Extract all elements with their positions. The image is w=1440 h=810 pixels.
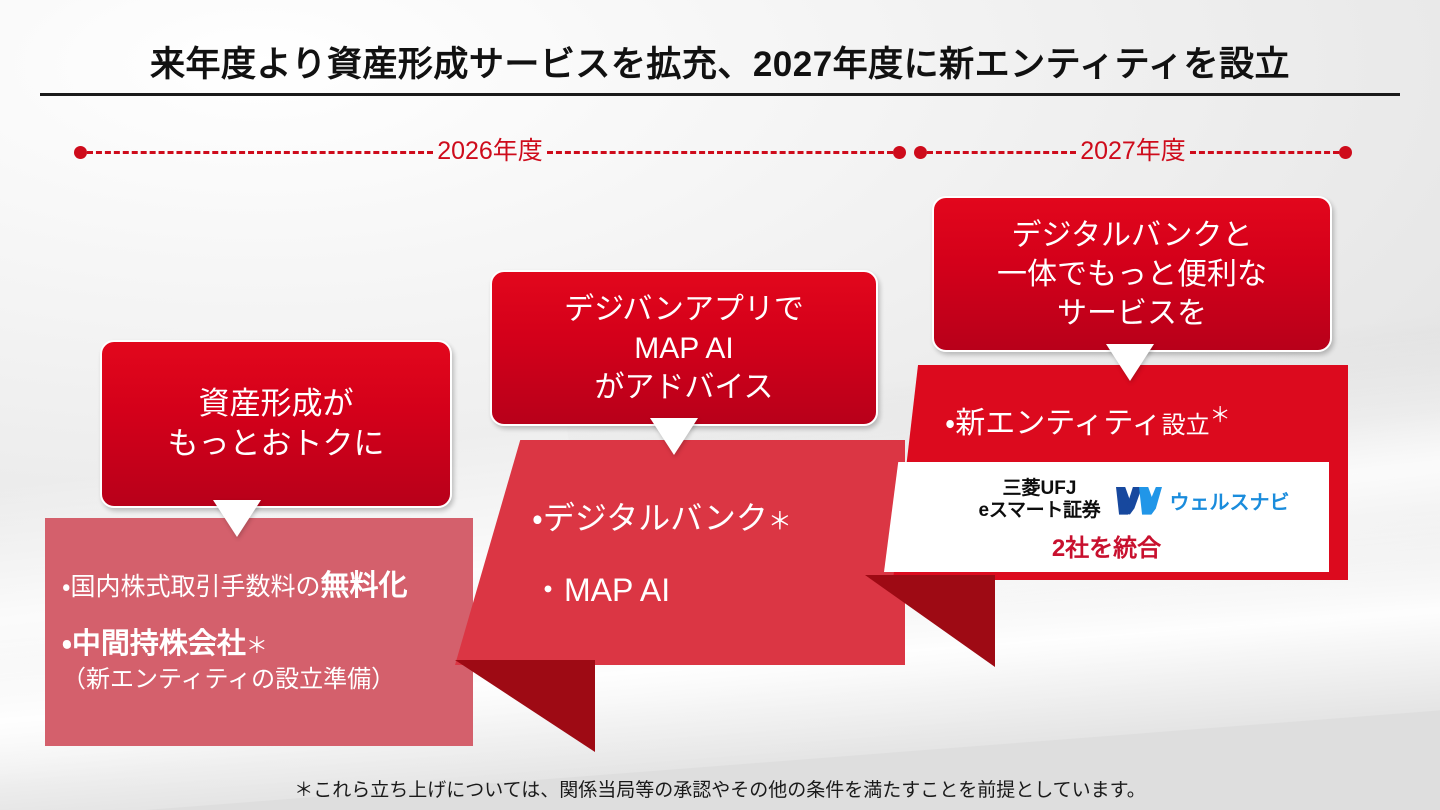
timeline-dash-left (87, 151, 433, 154)
panel-3-heading-main: ・新エンティティ (945, 407, 1162, 440)
timeline: 2026年度 2027年度 (0, 132, 1440, 172)
panel-3-heading-small: 設立 (1162, 412, 1210, 439)
callout-1-line-2: もっとおトクに (168, 424, 385, 464)
panel-2-item-2: ・MAP AI (532, 570, 892, 612)
timeline-label-2026: 2026年度 (433, 139, 547, 164)
logo-card: 三菱UFJ eスマート証券 ウェルスナビ 2社を統合 (884, 462, 1329, 572)
footnote: ＊これら立ち上げについては、関係当局等の承認やその他の条件を満たすことを前提とし… (0, 775, 1440, 802)
panel-3-heading: ・新エンティティ設立＊ (945, 404, 1231, 440)
panel-2-item-1-asterisk: ＊ (768, 508, 792, 535)
w-logo-icon (1116, 485, 1162, 515)
brand-mufg-esmart: 三菱UFJ eスマート証券 (979, 478, 1101, 523)
callout-3-tail-icon (1108, 346, 1152, 380)
callout-1-line-1: 資産形成が (168, 384, 385, 424)
panel-1-item-1: ・国内株式取引手数料の無料化 (62, 568, 462, 604)
timeline-dash-right (547, 151, 893, 154)
slide-canvas: 来年度より資産形成サービスを拡充、2027年度に新エンティティを設立 2026年… (0, 0, 1440, 810)
callout-3-line-1: デジタルバンクと (997, 216, 1267, 255)
panel-1-item-2-asterisk: ＊ (246, 633, 268, 658)
callout-2-line-2: MAP AI (564, 329, 804, 368)
panel-1-item-1-text: ・国内株式取引手数料の (62, 573, 321, 601)
callout-1-tail-icon (215, 502, 259, 536)
panel-1-item-1-emphasis: 無料化 (321, 570, 408, 602)
step-panel-1-body: ・国内株式取引手数料の無料化 ・中間持株会社＊ （新エンティティの設立準備） (62, 568, 462, 695)
panel-1-item-2-text: ・中間持株会社 (62, 628, 246, 660)
panel-1-item-2: ・中間持株会社＊ (62, 626, 462, 662)
title-divider (40, 93, 1400, 96)
page-title: 来年度より資産形成サービスを拡充、2027年度に新エンティティを設立 (0, 36, 1440, 87)
timeline-segment-2026: 2026年度 (74, 132, 906, 172)
callout-2-tail-icon (652, 420, 696, 454)
panel-2-item-1: ・デジタルバンク＊ (532, 498, 892, 540)
brand-wealthnavi-text: ウェルスナビ (1169, 486, 1289, 515)
step-panel-2-body: ・デジタルバンク＊ ・MAP AI (532, 498, 892, 611)
callout-bubble-1: 資産形成が もっとおトクに (100, 340, 452, 508)
timeline-dash-right (1190, 151, 1339, 154)
callout-2-line-1: デジバンアプリで (564, 290, 804, 329)
callout-3-text: デジタルバンクと 一体でもっと便利な サービスを (997, 216, 1267, 333)
timeline-dot-start-icon (914, 146, 927, 159)
callout-bubble-3: デジタルバンクと 一体でもっと便利な サービスを (932, 196, 1332, 352)
panel-2-item-1-text: ・デジタルバンク (532, 500, 768, 536)
timeline-dot-end-icon (1339, 146, 1352, 159)
timeline-segment-2027: 2027年度 (914, 132, 1352, 172)
callout-3-line-3: サービスを (997, 294, 1267, 333)
timeline-dot-end-icon (893, 146, 906, 159)
logo-row: 三菱UFJ eスマート証券 ウェルスナビ (944, 470, 1324, 530)
brand-wealthnavi: ウェルスナビ (1116, 485, 1289, 515)
brand-mufg-line2: eスマート証券 (979, 500, 1101, 522)
callout-2-text: デジバンアプリで MAP AI がアドバイス (564, 290, 804, 407)
merge-label: 2社を統合 (884, 528, 1329, 563)
panel-1-item-2-note: （新エンティティの設立準備） (62, 665, 462, 695)
timeline-dash-left (927, 151, 1076, 154)
callout-3-line-2: 一体でもっと便利な (997, 255, 1267, 294)
brand-mufg-line1: 三菱UFJ (979, 478, 1101, 500)
panel-3-heading-asterisk: ＊ (1210, 404, 1231, 427)
timeline-dot-start-icon (74, 146, 87, 159)
callout-2-line-3: がアドバイス (564, 368, 804, 407)
callout-bubble-2: デジバンアプリで MAP AI がアドバイス (490, 270, 878, 426)
callout-1-text: 資産形成が もっとおトクに (168, 384, 385, 465)
timeline-label-2027: 2027年度 (1076, 139, 1190, 164)
